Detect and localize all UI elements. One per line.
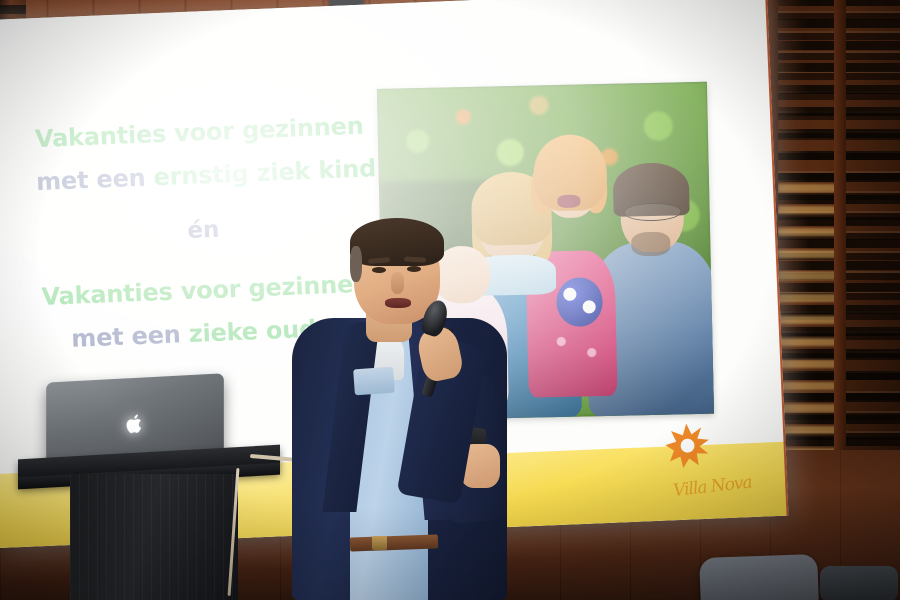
- speaker-belt-buckle: [372, 536, 387, 550]
- lectern: [18, 452, 280, 600]
- lectern-body: [70, 474, 238, 600]
- slide-line-2: met een ernstig ziek kind: [35, 152, 366, 200]
- speaker-sideburn: [350, 246, 362, 282]
- apple-logo-icon: [126, 413, 145, 436]
- background-chair: [820, 566, 898, 600]
- speaker-eye-right: [407, 266, 421, 272]
- speaker-shirt-pocket: [353, 367, 395, 396]
- screenshot-stage: Vakanties voor gezinnen met een ernstig …: [0, 0, 900, 600]
- slide-line-2-navy: met een: [36, 163, 155, 196]
- speaker-person: [292, 222, 507, 600]
- grey-chair: [699, 554, 819, 600]
- speaker-hair: [350, 218, 444, 266]
- slide-line-5-navy: met een: [71, 320, 190, 353]
- speaker-eye-left: [372, 267, 386, 273]
- slide-line-3-text: én: [187, 217, 220, 244]
- speaker-eyebrow-right: [404, 256, 426, 262]
- speaker-mouth: [385, 298, 411, 308]
- slide-line-2-green: ernstig ziek kind: [153, 154, 377, 191]
- speaker-nose: [391, 272, 404, 294]
- sun-star-logo-icon: [663, 421, 712, 470]
